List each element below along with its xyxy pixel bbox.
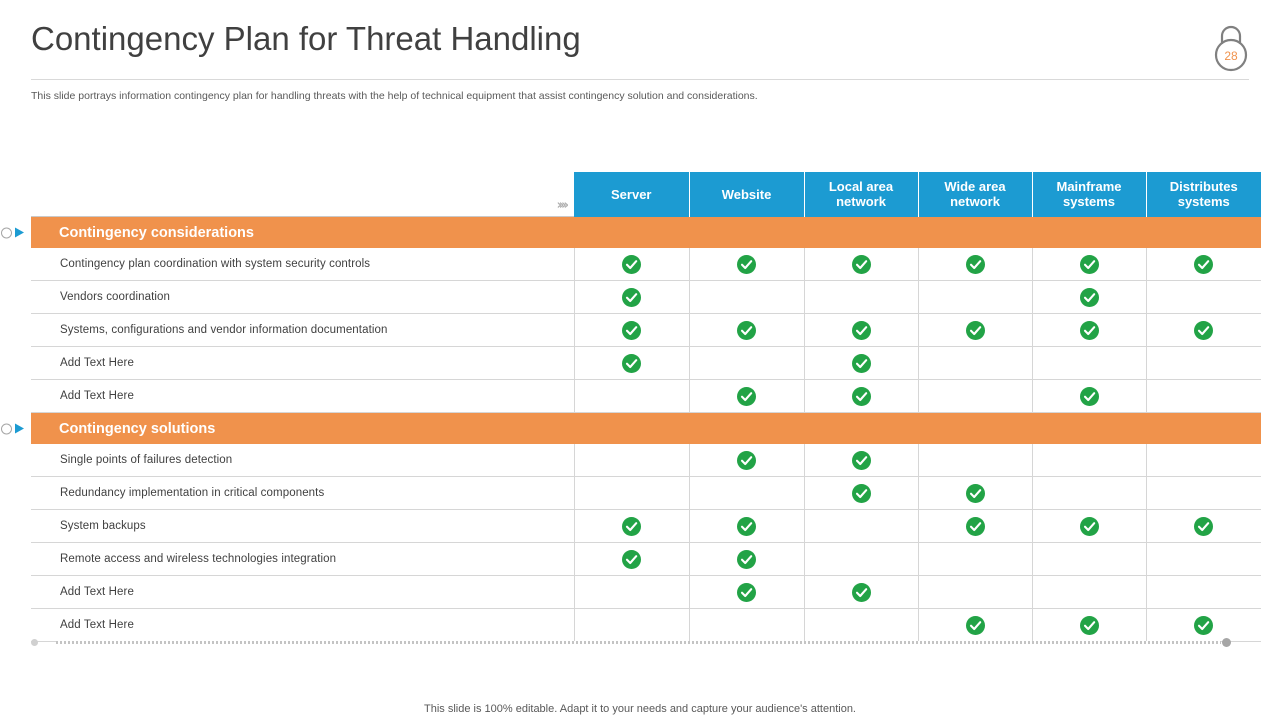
check-icon: [737, 583, 756, 602]
matrix-cell-checked: [689, 510, 804, 543]
matrix-cell-checked: [1146, 510, 1261, 543]
matrix-cell-checked: [1032, 510, 1146, 543]
column-header-mainframe-systems: Mainframe systems: [1032, 172, 1146, 217]
check-icon: [852, 255, 871, 274]
row-label: Single points of failures detection: [31, 444, 574, 477]
column-header-website: Website: [689, 172, 804, 217]
marker-ring-icon: [1, 227, 12, 238]
row-label: Remote access and wireless technologies …: [31, 543, 574, 576]
section-band-cell: [918, 217, 1032, 249]
matrix-cell-checked: [918, 248, 1032, 281]
matrix-cell-empty: [1146, 347, 1261, 380]
table-row: Add Text Here: [31, 576, 1261, 609]
matrix-cell-empty: [918, 380, 1032, 413]
check-icon: [1080, 616, 1099, 635]
matrix-cell-empty: [574, 609, 689, 642]
check-icon: [1194, 517, 1213, 536]
table-row: Remote access and wireless technologies …: [31, 543, 1261, 576]
page-subtitle: This slide portrays information continge…: [31, 90, 1131, 102]
matrix-cell-checked: [804, 248, 918, 281]
check-icon: [966, 616, 985, 635]
table-row: Add Text Here: [31, 609, 1261, 642]
table-row: Redundancy implementation in critical co…: [31, 477, 1261, 510]
matrix-cell-empty: [918, 347, 1032, 380]
matrix-table: ›››› Server Website Local area network W…: [31, 172, 1261, 642]
check-icon: [852, 484, 871, 503]
check-icon: [1080, 517, 1099, 536]
matrix-cell-checked: [574, 510, 689, 543]
matrix-cell-checked: [804, 477, 918, 510]
check-icon: [622, 288, 641, 307]
matrix-cell-checked: [689, 248, 804, 281]
matrix-cell-checked: [689, 576, 804, 609]
check-icon: [1194, 321, 1213, 340]
check-icon: [622, 550, 641, 569]
check-icon: [966, 321, 985, 340]
table-row: Contingency plan coordination with syste…: [31, 248, 1261, 281]
section-title: Contingency considerations: [31, 217, 574, 249]
table-row: Add Text Here: [31, 347, 1261, 380]
section-band-row: Contingency solutions: [31, 413, 1261, 445]
matrix-cell-checked: [689, 380, 804, 413]
matrix-cell-empty: [689, 347, 804, 380]
matrix-cell-empty: [918, 576, 1032, 609]
matrix-cell-empty: [689, 477, 804, 510]
check-icon: [737, 517, 756, 536]
matrix-cell-empty: [689, 281, 804, 314]
section-band-cell: [574, 413, 689, 445]
marker-arrow-icon: [15, 228, 24, 238]
table-row: Single points of failures detection: [31, 444, 1261, 477]
matrix-cell-empty: [1032, 543, 1146, 576]
column-header-distributes-systems: Distributes systems: [1146, 172, 1261, 217]
check-icon: [852, 451, 871, 470]
check-icon: [737, 387, 756, 406]
arrows-icon: ››››: [557, 198, 566, 213]
check-icon: [622, 517, 641, 536]
matrix-cell-empty: [574, 477, 689, 510]
matrix-cell-empty: [1146, 576, 1261, 609]
row-label: System backups: [31, 510, 574, 543]
section-band-row: Contingency considerations: [31, 217, 1261, 249]
row-label: Add Text Here: [31, 380, 574, 413]
check-icon: [1080, 321, 1099, 340]
row-label: Systems, configurations and vendor infor…: [31, 314, 574, 347]
matrix-cell-checked: [804, 347, 918, 380]
scrollbar-thumb[interactable]: [1222, 638, 1231, 647]
matrix-cell-checked: [1146, 609, 1261, 642]
section-band-cell: [689, 217, 804, 249]
row-label: Add Text Here: [31, 609, 574, 642]
check-icon: [852, 583, 871, 602]
matrix-cell-empty: [804, 281, 918, 314]
matrix-cell-empty: [574, 380, 689, 413]
check-icon: [1080, 387, 1099, 406]
section-band-cell: [918, 413, 1032, 445]
check-icon: [737, 451, 756, 470]
matrix-cell-checked: [574, 347, 689, 380]
check-icon: [737, 321, 756, 340]
matrix-cell-empty: [1146, 543, 1261, 576]
matrix-cell-checked: [918, 477, 1032, 510]
check-icon: [1194, 616, 1213, 635]
matrix-cell-empty: [1146, 281, 1261, 314]
section-band-cell: [1032, 217, 1146, 249]
matrix-cell-empty: [1146, 380, 1261, 413]
check-icon: [622, 354, 641, 373]
row-label: Vendors coordination: [31, 281, 574, 314]
matrix-cell-empty: [1032, 477, 1146, 510]
matrix-cell-checked: [804, 314, 918, 347]
footer-note: This slide is 100% editable. Adapt it to…: [0, 703, 1280, 715]
matrix-cell-checked: [1032, 248, 1146, 281]
check-icon: [622, 255, 641, 274]
table-row: Add Text Here: [31, 380, 1261, 413]
matrix-cell-checked: [918, 609, 1032, 642]
horizontal-scrollbar[interactable]: [31, 638, 1231, 647]
check-icon: [1080, 288, 1099, 307]
matrix-cell-checked: [689, 543, 804, 576]
check-icon: [966, 255, 985, 274]
section-band-cell: [689, 413, 804, 445]
matrix-cell-empty: [1032, 576, 1146, 609]
scrollbar-track[interactable]: [56, 641, 1221, 644]
header-corner: ››››: [31, 172, 574, 217]
table-row: System backups: [31, 510, 1261, 543]
section-band-cell: [574, 217, 689, 249]
table-row: Vendors coordination: [31, 281, 1261, 314]
check-icon: [1080, 255, 1099, 274]
section-band-cell: [1146, 217, 1261, 249]
matrix-cell-empty: [804, 609, 918, 642]
matrix-cell-empty: [804, 510, 918, 543]
marker-ring-icon: [1, 423, 12, 434]
matrix-cell-checked: [1032, 281, 1146, 314]
matrix-cell-checked: [574, 543, 689, 576]
matrix-cell-checked: [574, 281, 689, 314]
matrix-cell-checked: [1032, 609, 1146, 642]
badge-number: 28: [1224, 49, 1238, 63]
matrix-cell-checked: [918, 314, 1032, 347]
page-title: Contingency Plan for Threat Handling: [31, 20, 581, 58]
check-icon: [1194, 255, 1213, 274]
check-icon: [852, 387, 871, 406]
matrix-cell-empty: [804, 543, 918, 576]
matrix-cell-empty: [689, 609, 804, 642]
matrix-cell-checked: [918, 510, 1032, 543]
column-header-local-area-network: Local area network: [804, 172, 918, 217]
check-icon: [737, 550, 756, 569]
check-icon: [737, 255, 756, 274]
matrix-cell-checked: [1146, 248, 1261, 281]
matrix-cell-checked: [1146, 314, 1261, 347]
matrix-cell-empty: [1032, 347, 1146, 380]
contingency-matrix: ›››› Server Website Local area network W…: [31, 172, 1261, 642]
column-header-server: Server: [574, 172, 689, 217]
matrix-cell-checked: [1032, 380, 1146, 413]
check-icon: [852, 321, 871, 340]
column-header-wide-area-network: Wide area network: [918, 172, 1032, 217]
section-title: Contingency solutions: [31, 413, 574, 445]
section-band-cell: [804, 413, 918, 445]
section-band-cell: [1032, 413, 1146, 445]
matrix-cell-checked: [689, 444, 804, 477]
row-label: Redundancy implementation in critical co…: [31, 477, 574, 510]
matrix-cell-checked: [804, 444, 918, 477]
check-icon: [966, 484, 985, 503]
row-label: Add Text Here: [31, 347, 574, 380]
matrix-cell-empty: [918, 281, 1032, 314]
matrix-cell-empty: [1146, 477, 1261, 510]
row-label: Add Text Here: [31, 576, 574, 609]
matrix-cell-empty: [1146, 444, 1261, 477]
section-band-cell: [804, 217, 918, 249]
matrix-cell-checked: [804, 380, 918, 413]
matrix-cell-checked: [1032, 314, 1146, 347]
marker-arrow-icon: [15, 424, 24, 434]
matrix-cell-checked: [574, 314, 689, 347]
title-divider: [31, 79, 1249, 80]
check-icon: [622, 321, 641, 340]
section-band-cell: [1146, 413, 1261, 445]
matrix-cell-checked: [689, 314, 804, 347]
matrix-cell-empty: [574, 576, 689, 609]
check-icon: [852, 354, 871, 373]
table-header-row: ›››› Server Website Local area network W…: [31, 172, 1261, 217]
scrollbar-start-handle[interactable]: [31, 639, 38, 646]
table-row: Systems, configurations and vendor infor…: [31, 314, 1261, 347]
section-marker: [1, 423, 24, 434]
row-label: Contingency plan coordination with syste…: [31, 248, 574, 281]
section-marker: [1, 227, 24, 238]
matrix-cell-checked: [804, 576, 918, 609]
check-icon: [966, 517, 985, 536]
matrix-cell-empty: [918, 444, 1032, 477]
matrix-cell-empty: [1032, 444, 1146, 477]
matrix-cell-empty: [574, 444, 689, 477]
lock-icon: 28: [1208, 22, 1254, 74]
matrix-cell-empty: [918, 543, 1032, 576]
matrix-cell-checked: [574, 248, 689, 281]
